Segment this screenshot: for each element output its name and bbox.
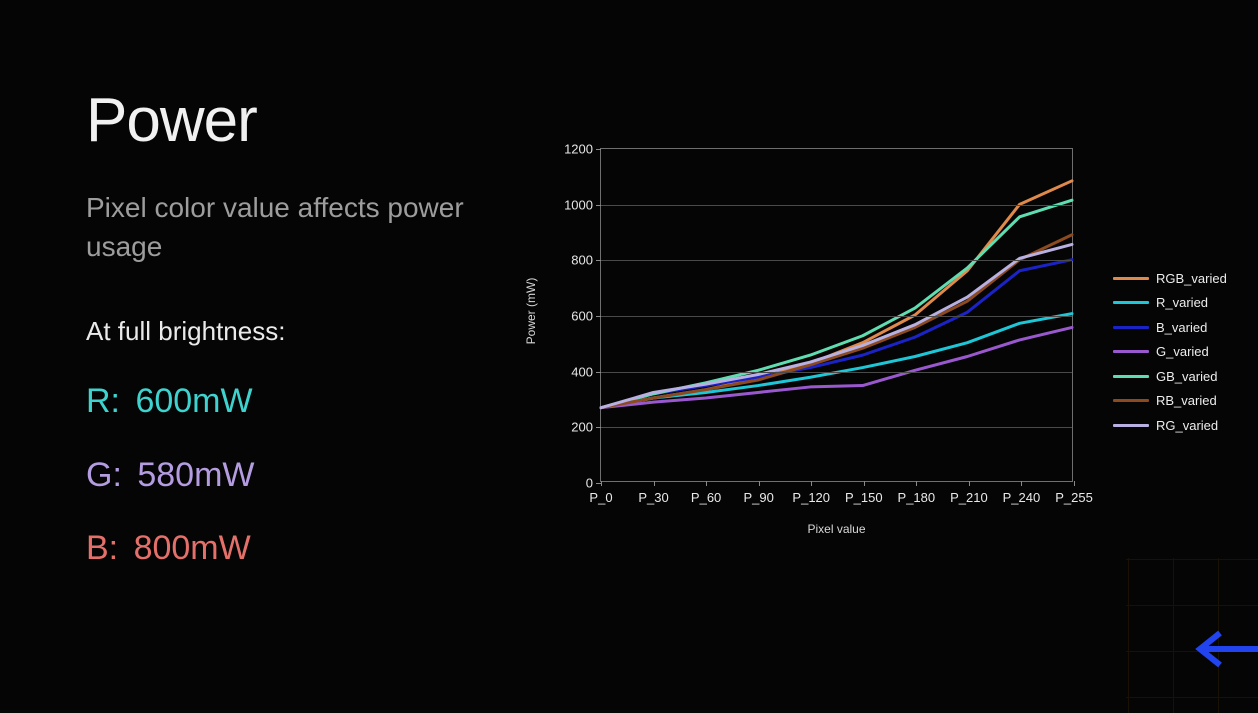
chart-y-tick-label: 600 [571, 309, 593, 324]
chart-series-layer [601, 149, 1072, 481]
chart-series-line [601, 244, 1072, 407]
measurement-list: R: 600mWG: 580mWB: 800mW [86, 383, 506, 567]
chart-gridline [601, 205, 1072, 206]
legend-item: RGB_varied [1113, 266, 1227, 291]
measurement-channel-label: R: [86, 382, 120, 420]
chart-y-axis-label: Power (mW) [524, 251, 538, 371]
measurement-channel-label: B: [86, 529, 118, 567]
legend-label: G_varied [1156, 344, 1209, 359]
chart-x-tick-label: P_210 [950, 490, 988, 505]
legend-item: GB_varied [1113, 364, 1227, 389]
legend-item: B_varied [1113, 315, 1227, 340]
legend-color-swatch [1113, 326, 1149, 329]
legend-label: RB_varied [1156, 393, 1217, 408]
chart-x-tick-mark [811, 481, 812, 486]
legend-item: G_varied [1113, 340, 1227, 365]
chart-y-tick-mark [596, 205, 601, 206]
legend-label: R_varied [1156, 295, 1208, 310]
chart-x-tick-mark [601, 481, 602, 486]
legend-color-swatch [1113, 424, 1149, 427]
legend-color-swatch [1113, 375, 1149, 378]
chart-x-tick-mark [1021, 481, 1022, 486]
chart-y-tick-mark [596, 427, 601, 428]
legend-item: RG_varied [1113, 413, 1227, 438]
chart-x-axis-label: Pixel value [600, 522, 1073, 536]
left-content-column: Power Pixel color value affects power us… [86, 88, 506, 568]
chart-x-tick-label: P_255 [1055, 490, 1093, 505]
power-chart: Power (mW) 020040060080010001200P_0P_30P… [505, 136, 1125, 551]
back-arrow-button[interactable] [1186, 629, 1258, 669]
measurement-value: 600mW [126, 382, 253, 420]
chart-gridline [601, 427, 1072, 428]
legend-color-swatch [1113, 350, 1149, 353]
chart-x-tick-mark [654, 481, 655, 486]
chart-y-tick-label: 0 [586, 476, 593, 491]
chart-x-tick-mark [969, 481, 970, 486]
chart-x-tick-mark [1074, 481, 1075, 486]
measurement-row: B: 800mW [86, 530, 506, 567]
chart-x-tick-label: P_30 [638, 490, 668, 505]
legend-item: R_varied [1113, 291, 1227, 316]
chart-x-tick-mark [706, 481, 707, 486]
chart-x-tick-label: P_150 [845, 490, 883, 505]
legend-color-swatch [1113, 301, 1149, 304]
legend-color-swatch [1113, 277, 1149, 280]
legend-label: RGB_varied [1156, 271, 1227, 286]
chart-legend: RGB_variedR_variedB_variedG_variedGB_var… [1113, 266, 1227, 438]
chart-x-tick-label: P_120 [792, 490, 830, 505]
chart-y-tick-label: 1200 [564, 142, 593, 157]
chart-gridline [601, 316, 1072, 317]
chart-gridline [601, 260, 1072, 261]
measurement-value: 580mW [128, 456, 255, 494]
chart-x-tick-label: P_90 [743, 490, 773, 505]
legend-label: RG_varied [1156, 418, 1218, 433]
section-label: At full brightness: [86, 316, 506, 347]
measurement-value: 800mW [124, 529, 251, 567]
legend-label: GB_varied [1156, 369, 1217, 384]
chart-y-tick-label: 1000 [564, 197, 593, 212]
chart-x-tick-label: P_60 [691, 490, 721, 505]
chart-y-tick-mark [596, 372, 601, 373]
measurement-row: G: 580mW [86, 457, 506, 494]
slide-canvas: Power Pixel color value affects power us… [0, 0, 1258, 713]
chart-y-tick-label: 400 [571, 364, 593, 379]
chart-series-line [601, 200, 1072, 408]
legend-label: B_varied [1156, 320, 1207, 335]
chart-plot-area: 020040060080010001200P_0P_30P_60P_90P_12… [600, 148, 1073, 482]
chart-y-tick-label: 200 [571, 420, 593, 435]
chart-x-tick-label: P_0 [589, 490, 612, 505]
chart-y-tick-mark [596, 260, 601, 261]
chart-x-tick-mark [916, 481, 917, 486]
legend-color-swatch [1113, 399, 1149, 402]
chart-y-tick-label: 800 [571, 253, 593, 268]
chart-x-tick-mark [864, 481, 865, 486]
legend-item: RB_varied [1113, 389, 1227, 414]
slide-subtitle: Pixel color value affects power usage [86, 189, 476, 266]
measurement-row: R: 600mW [86, 383, 506, 420]
measurement-channel-label: G: [86, 456, 122, 494]
chart-x-tick-label: P_180 [898, 490, 936, 505]
chart-x-tick-mark [759, 481, 760, 486]
chart-x-tick-label: P_240 [1003, 490, 1041, 505]
page-title: Power [86, 88, 506, 153]
chart-gridline [601, 372, 1072, 373]
chart-y-tick-mark [596, 149, 601, 150]
arrow-left-icon [1186, 629, 1258, 669]
chart-y-tick-mark [596, 316, 601, 317]
